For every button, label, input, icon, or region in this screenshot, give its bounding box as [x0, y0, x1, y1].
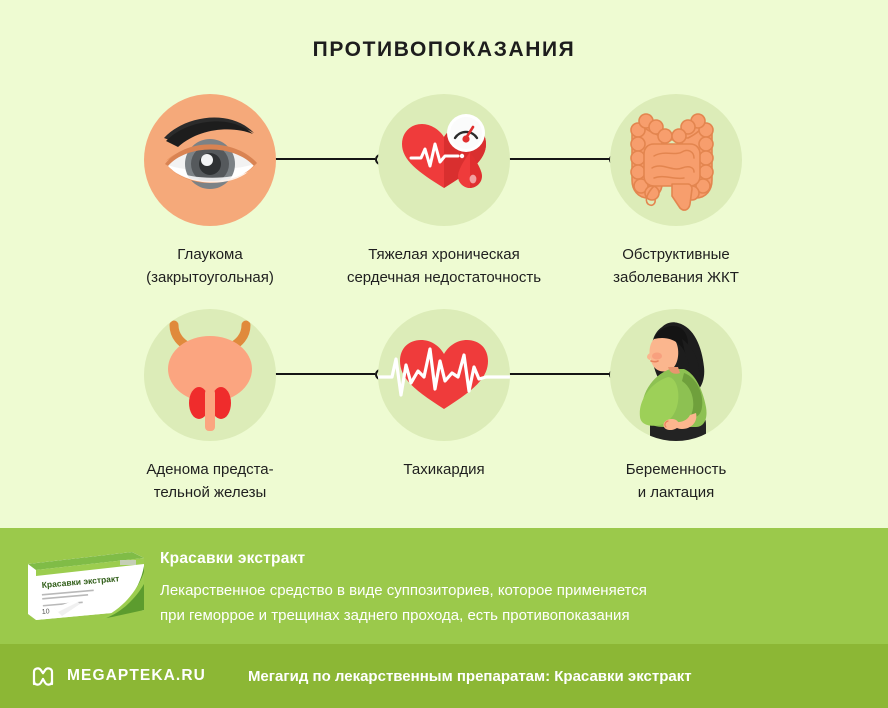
contraindication-item-prostate: Аденома предста- тельной железы — [94, 309, 326, 504]
contraindication-item-tachycardia: Тахикардия — [328, 309, 560, 481]
contraindication-label: Тахикардия — [328, 458, 560, 481]
prostate-bladder-icon — [144, 309, 276, 441]
promo-description: Лекарственное средство в виде суппозитор… — [160, 578, 860, 628]
promo-title: Красавки экстракт — [160, 550, 860, 568]
intestines-icon — [610, 94, 742, 226]
contraindication-item-glaucoma: Глаукома (закрытоугольная) — [94, 94, 326, 289]
contraindications-grid: Глаукома (закрытоугольная) — [0, 94, 888, 524]
heart-ecg-icon — [378, 309, 510, 441]
icon-circle — [144, 94, 276, 226]
contraindication-item-heart-failure: Тяжелая хроническая сердечная недостаточ… — [328, 94, 560, 289]
promo-text: Красавки экстракт Лекарственное средство… — [160, 550, 860, 628]
contraindications-row-1: Глаукома (закрытоугольная) — [0, 94, 888, 309]
contraindication-label: Тяжелая хроническая сердечная недостаточ… — [328, 243, 560, 289]
contraindication-label: Аденома предста- тельной железы — [94, 458, 326, 504]
contraindication-label: Беременность и лактация — [560, 458, 792, 504]
product-promo-band: Красавки экстракт 10 Красавки экстракт Л… — [0, 528, 888, 644]
contraindication-item-pregnancy: Беременность и лактация — [560, 309, 792, 504]
medicine-box-illustration: Красавки экстракт 10 — [22, 546, 147, 624]
megapteka-m-logo — [30, 663, 56, 689]
medicine-box-image: Красавки экстракт 10 — [22, 546, 147, 624]
icon-circle — [378, 94, 510, 226]
footer-bar: MEGAPTEKA.RU Мегагид по лекарственным пр… — [0, 644, 888, 708]
icon-circle — [610, 94, 742, 226]
infographic-page: ПРОТИВОПОКАЗАНИЯ — [0, 0, 888, 708]
icon-circle — [610, 309, 742, 441]
eye-glaucoma-icon — [144, 94, 276, 226]
svg-text:10: 10 — [42, 608, 50, 616]
brand-name: MEGAPTEKA.RU — [67, 667, 206, 685]
heart-failure-icon — [378, 94, 510, 226]
icon-circle — [378, 309, 510, 441]
icon-circle — [144, 309, 276, 441]
page-title: ПРОТИВОПОКАЗАНИЯ — [0, 38, 888, 62]
contraindications-row-2: Аденома предста- тельной железы Тахикард… — [0, 309, 888, 524]
brand-logo-group[interactable]: MEGAPTEKA.RU — [30, 663, 206, 689]
footer-caption: Мегагид по лекарственным препаратам: Кра… — [248, 668, 692, 685]
contraindication-item-gi: Обструктивные заболевания ЖКТ — [560, 94, 792, 289]
pregnant-woman-icon — [610, 309, 742, 441]
contraindication-label: Обструктивные заболевания ЖКТ — [560, 243, 792, 289]
contraindication-label: Глаукома (закрытоугольная) — [94, 243, 326, 289]
